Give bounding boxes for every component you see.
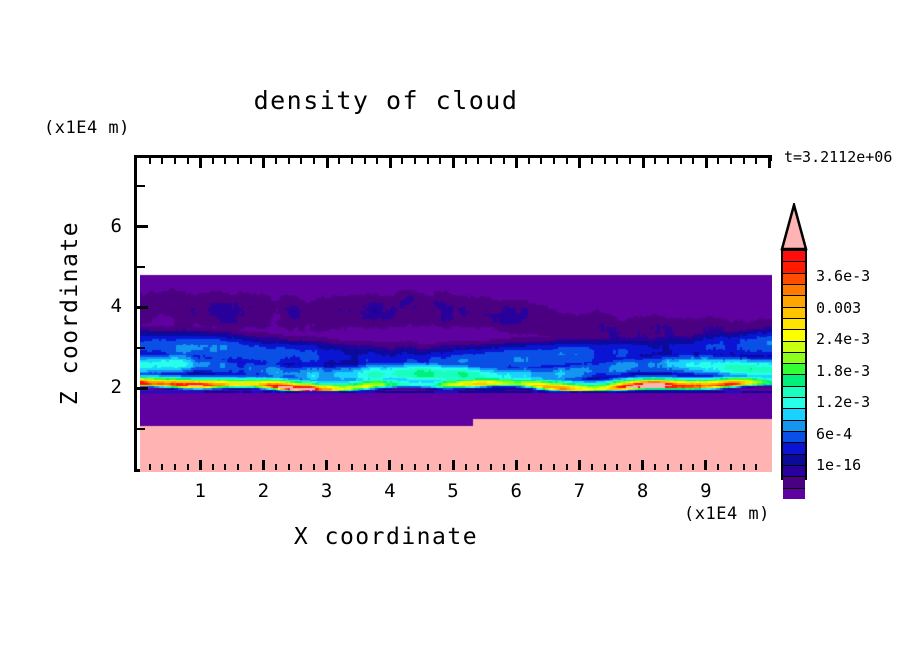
x-tick-minor [376, 464, 378, 470]
x-tick-major [452, 460, 455, 470]
x-tick-minor-top [680, 158, 682, 164]
x-axis-units-label: (x1E4 m) [684, 504, 770, 524]
colorbar-arrow-icon [780, 203, 808, 251]
x-tick-minor-top [300, 158, 302, 164]
colorbar-cell [783, 421, 805, 432]
colorbar-tick-label: 1.8e-3 [816, 362, 870, 380]
y-tick-major [137, 387, 148, 390]
x-tick-minor-top [503, 158, 505, 164]
x-tick-major-top [199, 158, 202, 168]
y-tick-minor [137, 428, 145, 430]
x-tick-minor-top [654, 158, 656, 164]
x-tick-minor-top [540, 158, 542, 164]
x-tick-major-top [452, 158, 455, 168]
colorbar-cell [783, 364, 805, 375]
y-tick-major [137, 225, 148, 228]
time-annotation: t=3.2112e+06 [784, 148, 892, 166]
x-tick-minor [503, 464, 505, 470]
x-tick-minor [364, 464, 366, 470]
x-tick-minor-top [149, 158, 151, 164]
x-tick-major-top [326, 158, 329, 168]
y-tick-label: 2 [82, 376, 122, 398]
x-tick-major [262, 460, 265, 470]
x-tick-minor [528, 464, 530, 470]
x-tick-minor [149, 464, 151, 470]
x-tick-label: 1 [180, 480, 220, 502]
colorbar-cell [783, 285, 805, 296]
x-tick-minor [401, 464, 403, 470]
x-tick-minor-top [667, 158, 669, 164]
colorbar-cell [783, 353, 805, 364]
x-tick-minor-top [288, 158, 290, 164]
x-tick-minor-top [490, 158, 492, 164]
figure-root: density of cloud (x1E4 m) t=3.2112e+06 1… [0, 0, 904, 654]
x-tick-minor-top [401, 158, 403, 164]
x-tick-minor [490, 464, 492, 470]
x-tick-minor [174, 464, 176, 470]
x-tick-minor [275, 464, 277, 470]
x-tick-minor-top [616, 158, 618, 164]
y-tick-minor [137, 185, 145, 187]
x-tick-minor-top [364, 158, 366, 164]
x-tick-minor [439, 464, 441, 470]
x-tick-major-top [578, 158, 581, 168]
x-tick-minor-top [338, 158, 340, 164]
colorbar-cell [783, 409, 805, 420]
y-axis-title: Z coordinate [57, 213, 83, 413]
x-tick-minor-top [553, 158, 555, 164]
x-tick-minor-top [237, 158, 239, 164]
x-tick-major [388, 460, 391, 470]
colorbar-cell [783, 455, 805, 466]
colorbar-cell [783, 308, 805, 319]
x-tick-minor [477, 464, 479, 470]
x-tick-minor [427, 464, 429, 470]
colorbar-cell [783, 466, 805, 477]
x-tick-minor-top [591, 158, 593, 164]
y-tick-label: 4 [82, 295, 122, 317]
colorbar-cell [783, 375, 805, 386]
x-tick-minor-top [376, 158, 378, 164]
x-tick-label: 4 [370, 480, 410, 502]
x-tick-minor-top [717, 158, 719, 164]
x-tick-label: 8 [623, 480, 663, 502]
x-tick-minor-top [477, 158, 479, 164]
x-tick-major [641, 460, 644, 470]
x-tick-minor-top [755, 158, 757, 164]
x-tick-minor [692, 464, 694, 470]
x-tick-minor [313, 464, 315, 470]
x-tick-minor [553, 464, 555, 470]
x-tick-minor [338, 464, 340, 470]
x-tick-major-top [642, 158, 645, 168]
x-tick-label: 6 [496, 480, 536, 502]
y-tick-label: 6 [82, 215, 122, 237]
x-tick-label: 3 [307, 480, 347, 502]
x-tick-minor [616, 464, 618, 470]
x-tick-major [515, 460, 518, 470]
y-axis-units-label: (x1E4 m) [44, 118, 130, 138]
colorbar-cell [783, 387, 805, 398]
x-tick-minor-top [743, 158, 745, 164]
colorbar-cell [783, 296, 805, 307]
x-tick-minor-top [187, 158, 189, 164]
x-tick-minor-top [604, 158, 606, 164]
colorbar-cell [783, 251, 805, 262]
x-tick-minor [730, 464, 732, 470]
x-tick-major [199, 460, 202, 470]
x-tick-label: 2 [243, 480, 283, 502]
y-tick-minor [137, 266, 145, 268]
x-tick-minor-top [692, 158, 694, 164]
plot-area [134, 155, 772, 472]
x-tick-major-top [262, 158, 265, 168]
x-tick-minor [465, 464, 467, 470]
x-tick-minor-top [250, 158, 252, 164]
colorbar-cell [783, 274, 805, 285]
colorbar-cell [783, 330, 805, 341]
x-tick-minor [755, 464, 757, 470]
x-tick-minor-top [629, 158, 631, 164]
colorbar-cell [783, 477, 805, 488]
x-tick-minor-top [528, 158, 530, 164]
colorbar-tick-label: 0.003 [816, 299, 861, 317]
colorbar-tick-label: 2.4e-3 [816, 330, 870, 348]
colorbar-cell [783, 489, 805, 499]
x-tick-minor-top [212, 158, 214, 164]
x-tick-minor [629, 464, 631, 470]
x-tick-minor-top [566, 158, 568, 164]
x-tick-minor [237, 464, 239, 470]
x-tick-minor [667, 464, 669, 470]
x-tick-minor [187, 464, 189, 470]
x-tick-minor-top [174, 158, 176, 164]
x-tick-minor [743, 464, 745, 470]
x-tick-major [704, 460, 707, 470]
x-tick-minor [288, 464, 290, 470]
colorbar-cell [783, 342, 805, 353]
x-tick-minor-top [465, 158, 467, 164]
x-tick-minor-top [275, 158, 277, 164]
x-tick-minor-top [439, 158, 441, 164]
x-tick-minor [212, 464, 214, 470]
x-tick-minor [680, 464, 682, 470]
colorbar-cell [783, 432, 805, 443]
x-tick-minor-top [427, 158, 429, 164]
x-tick-minor [717, 464, 719, 470]
contour-plot-canvas [140, 161, 772, 472]
x-tick-minor-top [161, 158, 163, 164]
x-tick-major [325, 460, 328, 470]
x-tick-minor [224, 464, 226, 470]
x-tick-minor [566, 464, 568, 470]
x-tick-major [578, 460, 581, 470]
colorbar-tick-label: 3.6e-3 [816, 267, 870, 285]
colorbar-cell [783, 398, 805, 409]
x-tick-minor [414, 464, 416, 470]
x-tick-minor [591, 464, 593, 470]
x-tick-minor-top [351, 158, 353, 164]
colorbar-gradient [781, 249, 807, 480]
y-tick-major [137, 306, 148, 309]
colorbar: 3.6e-30.0032.4e-31.8e-31.2e-36e-41e-16 [780, 203, 808, 480]
x-tick-minor [161, 464, 163, 470]
colorbar-tick-label: 1e-16 [816, 456, 861, 474]
x-tick-minor [540, 464, 542, 470]
x-tick-label: 7 [559, 480, 599, 502]
x-tick-major-top [768, 158, 771, 168]
x-tick-minor [351, 464, 353, 470]
x-tick-minor [300, 464, 302, 470]
colorbar-cell [783, 319, 805, 330]
x-tick-major-top [705, 158, 708, 168]
colorbar-cell [783, 443, 805, 454]
y-tick-minor [137, 347, 145, 349]
colorbar-tick-label: 1.2e-3 [816, 393, 870, 411]
x-tick-minor-top [730, 158, 732, 164]
x-tick-major-top [515, 158, 518, 168]
x-tick-minor [604, 464, 606, 470]
x-tick-major-top [389, 158, 392, 168]
x-tick-minor-top [313, 158, 315, 164]
x-tick-minor-top [414, 158, 416, 164]
colorbar-cell [783, 262, 805, 273]
x-tick-minor [654, 464, 656, 470]
x-tick-label: 9 [686, 480, 726, 502]
x-tick-minor [250, 464, 252, 470]
x-tick-minor-top [224, 158, 226, 164]
x-axis-title: X coordinate [0, 524, 772, 550]
page-title: density of cloud [0, 86, 772, 115]
x-tick-label: 5 [433, 480, 473, 502]
colorbar-tick-label: 6e-4 [816, 425, 852, 443]
